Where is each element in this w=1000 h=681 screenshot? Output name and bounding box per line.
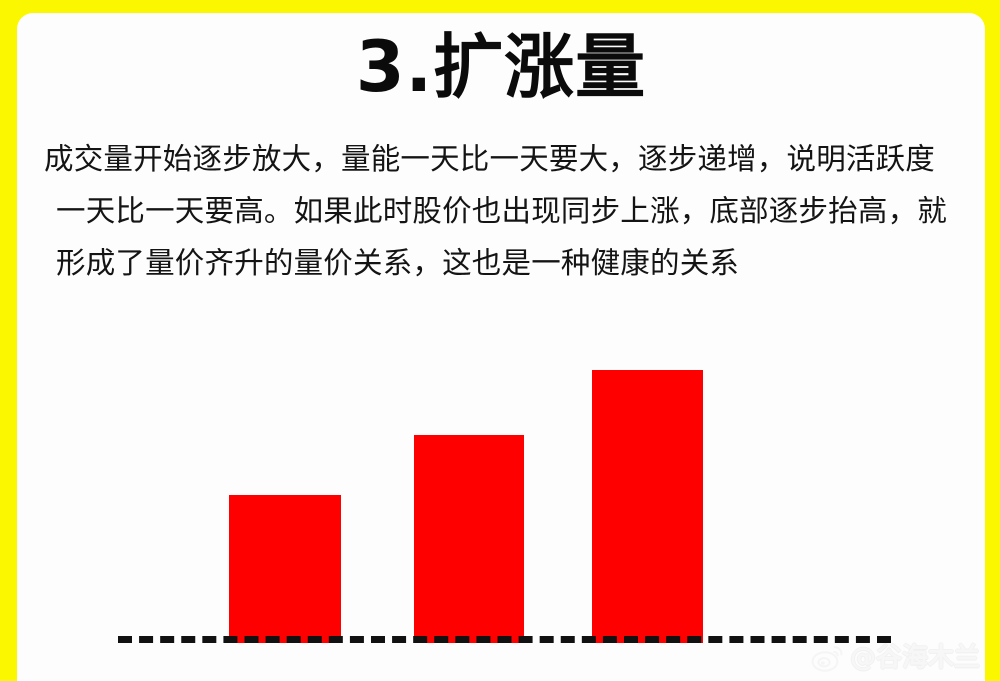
body-paragraph: 成交量开始逐步放大，量能一天比一天要大，逐步递增，说明活跃度 一天比一天要高。如…	[44, 133, 964, 289]
body-line-1: 成交量开始逐步放大，量能一天比一天要大，逐步递增，说明活跃度	[44, 133, 964, 185]
chart-baseline	[118, 636, 891, 643]
watermark-handle: @谷海木兰	[850, 643, 980, 673]
body-line-3: 形成了量价齐升的量价关系，这也是一种健康的关系	[44, 237, 964, 289]
chart-bar-2	[414, 435, 524, 643]
content-card: 3.扩涨量 成交量开始逐步放大，量能一天比一天要大，逐步递增，说明活跃度 一天比…	[17, 13, 985, 681]
volume-bar-chart	[17, 313, 985, 643]
chart-bar-1	[229, 495, 341, 643]
body-line-2: 一天比一天要高。如果此时股价也出现同步上涨，底部逐步抬高，就	[44, 185, 964, 237]
page-title: 3.扩涨量	[17, 25, 985, 109]
poster: 3.扩涨量 成交量开始逐步放大，量能一天比一天要大，逐步递增，说明活跃度 一天比…	[0, 0, 1000, 681]
watermark: @谷海木兰	[811, 643, 980, 673]
chart-bar-3	[592, 370, 703, 643]
weibo-icon	[811, 644, 845, 672]
